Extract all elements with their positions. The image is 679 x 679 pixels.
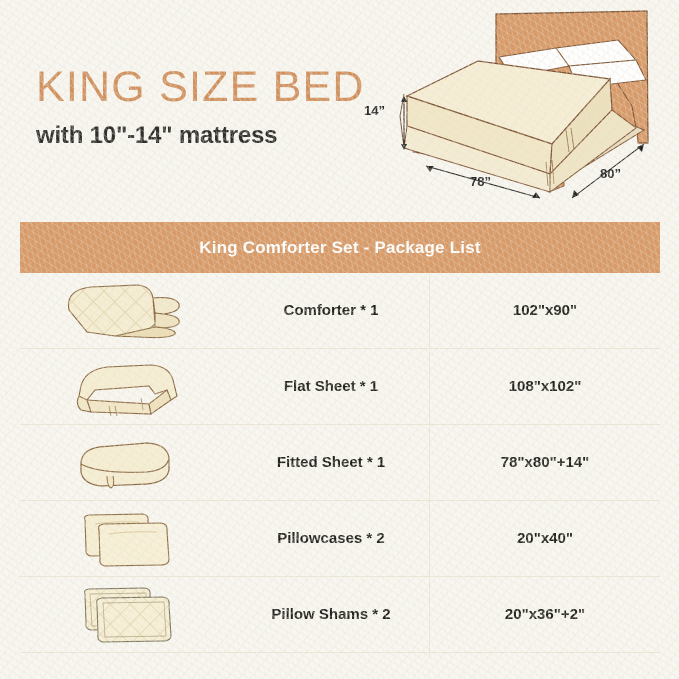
item-name: Pillowcases * 2 bbox=[232, 530, 430, 547]
pillow-sham-front bbox=[97, 597, 171, 642]
dimension-depth-arrow-top bbox=[637, 144, 644, 152]
dimension-height-label: 14” bbox=[364, 103, 385, 118]
dimension-depth-label: 80” bbox=[600, 166, 621, 181]
table-header-title: King Comforter Set - Package List bbox=[199, 238, 481, 258]
bed-diagram-svg: 14” 78” 80” bbox=[360, 2, 679, 210]
pillowcases-icon bbox=[20, 501, 232, 576]
page-title: KING SIZE BED bbox=[36, 66, 365, 109]
item-name: Pillow Shams * 2 bbox=[232, 606, 430, 623]
package-list-table: King Comforter Set - Package List bbox=[20, 222, 660, 653]
dimension-width-label: 78” bbox=[470, 174, 491, 189]
flat-sheet-icon bbox=[20, 349, 232, 424]
dimension-depth-arrow-bottom bbox=[572, 190, 579, 198]
item-name: Comforter * 1 bbox=[232, 302, 430, 319]
flat-sheet-drape-right bbox=[149, 390, 171, 414]
item-size: 108"x102" bbox=[430, 378, 660, 395]
item-name: Flat Sheet * 1 bbox=[232, 378, 430, 395]
page-subtitle: with 10"-14" mattress bbox=[36, 124, 365, 148]
dimension-width-arrow-right bbox=[532, 192, 540, 198]
fitted-sheet-body bbox=[81, 443, 169, 486]
table-row: Flat Sheet * 1 108"x102" bbox=[20, 349, 660, 425]
item-size: 102"x90" bbox=[430, 302, 660, 319]
table-row: Pillowcases * 2 20"x40" bbox=[20, 501, 660, 577]
dimension-height-arrow-top bbox=[401, 96, 407, 102]
king-bed-illustration: 14” 78” 80” bbox=[360, 2, 679, 210]
infographic-canvas: KING SIZE BED with 10"-14" mattress bbox=[0, 0, 679, 679]
fitted-sheet-icon bbox=[20, 425, 232, 500]
comforter-roll-top bbox=[153, 297, 179, 313]
comforter-body bbox=[68, 285, 155, 336]
table-row: Comforter * 1 102"x90" bbox=[20, 273, 660, 349]
table-row: Pillow Shams * 2 20"x36"+2" bbox=[20, 577, 660, 653]
pillowcase-front bbox=[99, 523, 169, 566]
headline-block: KING SIZE BED with 10"-14" mattress bbox=[36, 66, 365, 148]
drape-corner-left bbox=[400, 94, 404, 148]
dimension-width-arrow-left bbox=[426, 166, 434, 172]
comforter-roll-mid bbox=[155, 313, 179, 328]
comforter-icon bbox=[20, 273, 232, 348]
table-header-bar: King Comforter Set - Package List bbox=[20, 222, 660, 273]
item-name: Fitted Sheet * 1 bbox=[232, 454, 430, 471]
pillow-shams-icon bbox=[20, 577, 232, 652]
item-size: 20"x36"+2" bbox=[430, 606, 660, 623]
item-size: 20"x40" bbox=[430, 530, 660, 547]
item-size: 78"x80"+14" bbox=[430, 454, 660, 471]
table-row: Fitted Sheet * 1 78"x80"+14" bbox=[20, 425, 660, 501]
